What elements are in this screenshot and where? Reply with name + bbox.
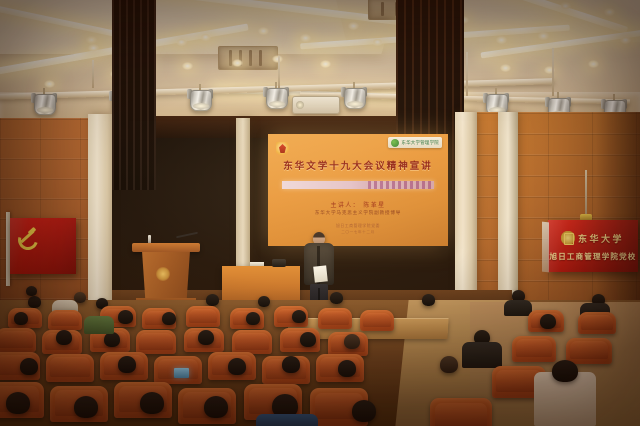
truss-hanger-rod	[466, 52, 468, 96]
recessed-downlight-icon	[348, 22, 359, 30]
auditorium-seat	[232, 330, 272, 354]
recessed-downlight-icon	[300, 34, 311, 42]
institution-logo: 东华大学管理学院	[388, 137, 442, 148]
audience-head	[204, 396, 228, 418]
institution-logo-text: 东华大学管理学院	[401, 140, 439, 146]
table-object-dark	[272, 259, 286, 267]
university-banner: 东华大学 旭日工商管理学院党校	[548, 220, 638, 272]
truss-hanger-rod	[552, 48, 554, 96]
audience-head	[6, 392, 30, 414]
truss-hanger-rod	[92, 60, 94, 88]
recessed-downlight-icon	[88, 44, 99, 52]
auditorium-seat	[512, 336, 556, 362]
audience-head	[104, 332, 120, 347]
audience-head	[552, 360, 578, 382]
audience-head	[26, 286, 37, 296]
ceiling-projector-icon	[292, 96, 340, 114]
recessed-downlight-icon	[372, 38, 383, 46]
auditorium-seat	[578, 312, 616, 334]
auditorium-seat	[46, 354, 94, 382]
recessed-downlight-icon	[258, 27, 269, 35]
auditorium-seat	[360, 310, 394, 331]
recessed-downlight-icon	[44, 80, 55, 88]
audience-head	[28, 296, 41, 308]
projector-lens-icon	[296, 101, 304, 109]
auditorium-seat	[136, 330, 176, 354]
stage-curtain-left	[112, 0, 156, 190]
audience-head	[440, 356, 458, 373]
auditorium-seat	[186, 306, 220, 327]
communist-party-flag	[10, 218, 76, 274]
architectural-column	[455, 112, 477, 308]
audience-head	[338, 360, 356, 377]
slide-footer-line2: 二〇一七年十二月	[268, 230, 448, 235]
audience-head	[118, 310, 133, 324]
audience-head	[162, 312, 176, 325]
audience-head	[20, 358, 38, 375]
recessed-downlight-icon	[176, 38, 187, 46]
banner-hanger	[585, 170, 587, 218]
recessed-downlight-icon	[588, 60, 599, 68]
audience-body	[504, 300, 532, 316]
recessed-downlight-icon	[232, 59, 243, 67]
audience-head	[206, 294, 219, 306]
recessed-downlight-icon	[538, 32, 549, 40]
stage-spotlight-icon	[486, 88, 506, 114]
audience-body	[256, 414, 318, 426]
recessed-downlight-icon	[200, 33, 211, 41]
recessed-downlight-icon	[86, 36, 97, 44]
audience-head	[198, 330, 214, 345]
audience-head	[282, 356, 300, 373]
audience-head	[246, 312, 260, 325]
stage-spotlight-icon	[190, 84, 210, 110]
audience-body	[84, 316, 114, 334]
red-shield-emblem-icon	[276, 142, 289, 156]
recessed-downlight-icon	[496, 36, 507, 44]
audience-head	[14, 312, 28, 325]
stage-spotlight-icon	[34, 88, 54, 114]
banner-department-name: 旭日工商管理学院党校	[548, 251, 638, 262]
audience-head	[228, 358, 246, 375]
audience-head	[74, 396, 98, 418]
audience-head	[330, 292, 343, 304]
auditorium-seat	[318, 308, 352, 329]
table-object-paper	[250, 262, 264, 266]
slide-title: 东华文学十九大会议精神宣讲	[268, 158, 448, 172]
stage-spotlight-icon	[344, 82, 364, 108]
auditorium-seat	[566, 338, 612, 364]
open-laptop-screen-icon	[174, 368, 189, 378]
audience-head	[352, 400, 376, 422]
audience-head	[140, 392, 164, 414]
university-crest-icon	[561, 231, 575, 245]
banner-university-name: 东华大学	[578, 232, 624, 245]
green-leaf-circle-logo-icon	[391, 139, 399, 147]
auditorium-seat	[430, 398, 492, 426]
audience-head	[422, 294, 435, 306]
auditorium-seat	[0, 328, 36, 352]
audience-head	[118, 356, 136, 373]
recessed-downlight-icon	[500, 64, 511, 72]
audience-head	[56, 330, 72, 345]
recessed-downlight-icon	[620, 36, 631, 44]
audience-head	[344, 334, 360, 349]
audience-body	[462, 342, 502, 368]
recessed-downlight-icon	[182, 62, 193, 70]
paper-sheets-icon	[313, 265, 328, 282]
recessed-downlight-icon	[320, 60, 331, 68]
slide-footer-line1: 旭日工商管理学院党委	[268, 223, 448, 229]
auditorium-seat	[48, 310, 82, 330]
banner-tail	[542, 222, 549, 273]
architectural-column	[498, 112, 518, 298]
slide-affiliation-line: 东华大学马克思主义学院副教授博导	[268, 210, 448, 216]
audience-head	[300, 332, 316, 347]
architectural-column	[88, 114, 114, 312]
slide-host-line: 主讲人： 陈革星	[268, 200, 448, 209]
stage-spotlight-icon	[266, 82, 286, 108]
slide-divider-bar	[282, 181, 434, 189]
auditorium-photo: 东华大学管理学院 东华文学十九大会议精神宣讲 主讲人： 陈革星 东华大学马克思主…	[0, 0, 640, 426]
university-seal-icon	[156, 267, 170, 281]
audience-head	[540, 314, 556, 329]
projection-screen: 东华大学管理学院 东华文学十九大会议精神宣讲 主讲人： 陈革星 东华大学马克思主…	[268, 134, 448, 246]
recessed-downlight-icon	[604, 8, 615, 16]
recessed-downlight-icon	[560, 2, 571, 10]
lectern-top	[132, 243, 200, 252]
audience-head	[292, 310, 306, 323]
audience-head	[258, 296, 270, 307]
hvac-ceiling-vent-icon	[218, 46, 278, 70]
hammer-and-sickle-icon	[17, 227, 37, 247]
